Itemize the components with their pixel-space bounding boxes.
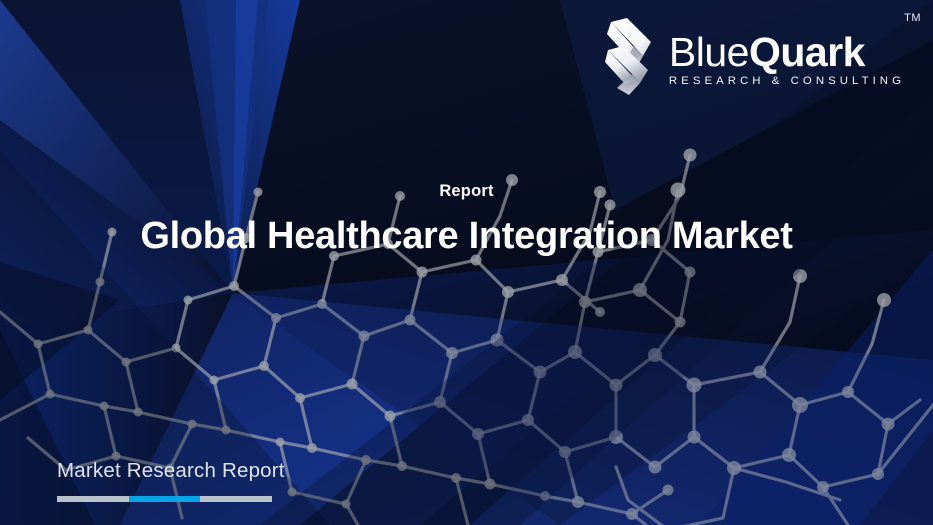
bluequark-chevron-mark bbox=[605, 16, 659, 98]
wordmark-blue: Blue bbox=[669, 29, 749, 75]
wordmark-quark: Quark bbox=[749, 29, 865, 75]
progress-segment-right bbox=[200, 496, 272, 502]
brand-logo[interactable]: BlueQuark RESEARCH & CONSULTING bbox=[605, 16, 905, 98]
report-cover-slide: TM bbox=[0, 0, 933, 525]
trademark-symbol: TM bbox=[904, 12, 921, 24]
footer-subtitle: Market Research Report bbox=[57, 459, 285, 483]
cover-footer: Market Research Report bbox=[57, 459, 285, 502]
report-title: Global Healthcare Integration Market bbox=[0, 215, 933, 258]
cover-title-group: Report Global Healthcare Integration Mar… bbox=[0, 182, 933, 258]
brand-tagline: RESEARCH & CONSULTING bbox=[669, 75, 905, 87]
accent-progress-bar bbox=[57, 496, 272, 502]
progress-segment-middle bbox=[129, 496, 200, 502]
progress-segment-left bbox=[57, 496, 129, 502]
brand-wordmark-group: BlueQuark RESEARCH & CONSULTING bbox=[669, 27, 905, 88]
report-kicker-label: Report bbox=[0, 182, 933, 201]
brand-wordmark: BlueQuark bbox=[669, 33, 905, 72]
